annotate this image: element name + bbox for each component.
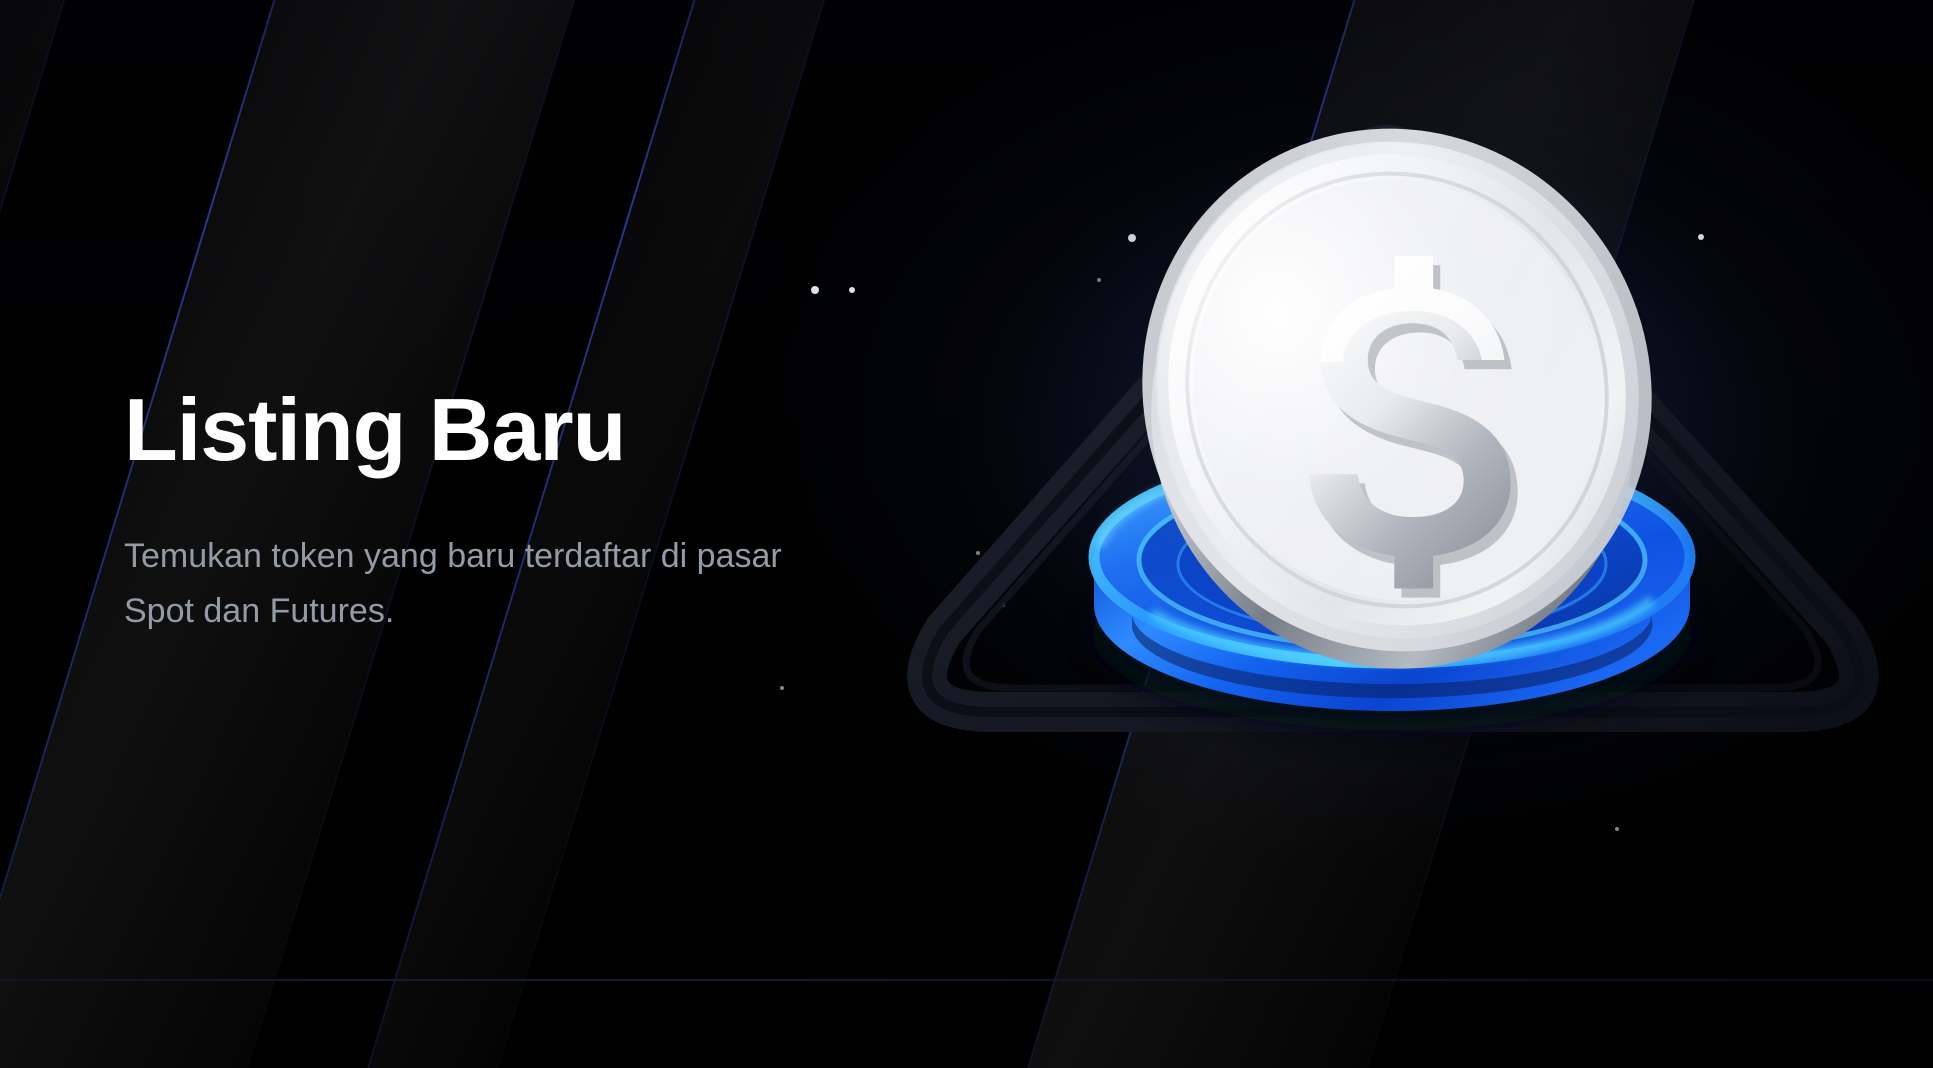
new-listing-banner: Listing Baru Temukan token yang baru ter… [0,0,1933,1068]
star-dot [1615,827,1619,831]
banner-copy: Listing Baru Temukan token yang baru ter… [124,386,884,639]
star-dot [811,286,819,294]
bottom-divider [0,979,1933,981]
new-listing-coin-illustration [832,60,1922,760]
star-dot [780,686,784,690]
page-subtitle: Temukan token yang baru terdaftar di pas… [124,529,844,639]
page-title: Listing Baru [124,386,884,474]
